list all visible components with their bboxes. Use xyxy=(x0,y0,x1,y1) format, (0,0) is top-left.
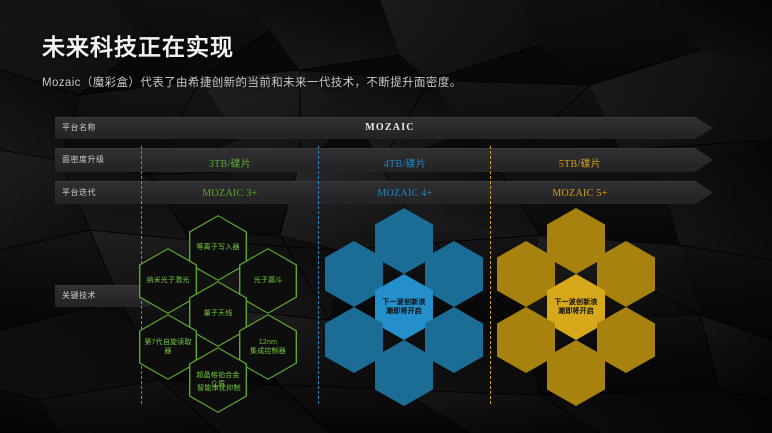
cell-iteration-mozaic5: MOZAIC 5+ xyxy=(520,188,640,199)
cell-areal-density-mozaic4: 4TB/碟片 xyxy=(345,155,465,170)
cell-platform-name-value: MOZAIC xyxy=(330,122,450,133)
row-label-platform-name: 平台名称 xyxy=(62,124,96,132)
cell-iteration-mozaic4: MOZAIC 4+ xyxy=(345,188,465,199)
hex-label: 12nm 集成控制器 xyxy=(246,338,290,357)
hex-label: 光子漏斗 xyxy=(250,276,287,285)
hex-label: 下一波创新浪潮即将开启 xyxy=(375,298,433,317)
slide-canvas: 未来科技正在实现 Mozaic（魔彩盒）代表了由希捷创新的当前和未来一代技术，不… xyxy=(0,0,772,433)
hex-label: 第7代自旋读取器 xyxy=(139,338,197,357)
divider-gold xyxy=(490,146,491,404)
page-title: 未来科技正在实现 xyxy=(42,28,234,62)
cluster-caption-mozaic-3: 智能串扰抑制 xyxy=(169,383,269,393)
hex-label: 量子天线 xyxy=(200,309,237,318)
row-label-platform-iteration: 平台迭代 xyxy=(62,189,96,197)
divider-blue xyxy=(318,146,319,404)
hex-label: 下一波创新浪潮即将开启 xyxy=(547,298,605,317)
cell-areal-density-mozaic3: 3TB/碟片 xyxy=(170,155,290,170)
row-label-areal-density: 面密度升级 xyxy=(62,156,105,164)
row-label-key-technology: 关键技术 xyxy=(62,292,96,300)
cell-iteration-mozaic3: MOZAIC 3+ xyxy=(170,188,290,199)
cell-areal-density-mozaic5: 5TB/碟片 xyxy=(520,155,640,170)
hex-label: 等离子写入器 xyxy=(192,243,243,252)
hex-label: 纳米光子激光 xyxy=(142,276,193,285)
page-subtitle: Mozaic（魔彩盒）代表了由希捷创新的当前和未来一代技术，不断提升面密度。 xyxy=(42,74,462,90)
